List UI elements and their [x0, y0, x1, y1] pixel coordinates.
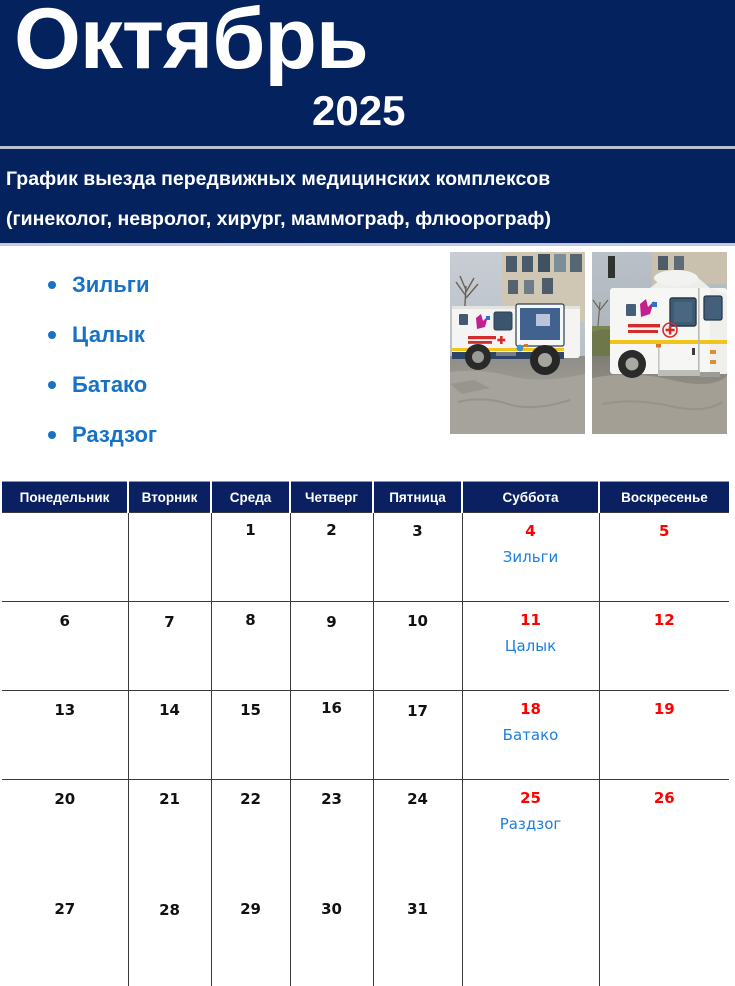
van-photo-right-graphic — [592, 252, 727, 434]
calendar-body: 1 2 3 4 Зильги 5 6 7 8 9 10 11 Цалык — [2, 513, 729, 986]
event-label: Цалык — [463, 637, 599, 655]
calendar-cell[interactable]: 16 — [290, 691, 373, 780]
villages-and-photos-section: Зильги Цалык Батако Раздзог — [0, 246, 735, 484]
weekday-header-thursday: Четверг — [290, 482, 373, 513]
day-number: 25 — [463, 788, 599, 808]
subtitle-line-1: График выезда передвижных медицинских ко… — [6, 159, 729, 199]
calendar-cell[interactable]: 1 — [211, 513, 290, 602]
day-number: 15 — [212, 700, 290, 720]
weekday-header-wednesday: Среда — [211, 482, 290, 513]
calendar-cell[interactable] — [599, 868, 729, 986]
mobile-medical-van-photo-right — [592, 252, 727, 434]
calendar-cell[interactable]: 17 — [373, 691, 462, 780]
day-number: 14 — [129, 700, 211, 720]
calendar-cell[interactable]: 19 — [599, 691, 729, 780]
day-number: 10 — [374, 611, 462, 631]
day-number: 22 — [212, 789, 290, 809]
day-number: 4 — [463, 521, 599, 541]
day-number: 6 — [2, 611, 128, 631]
day-number: 11 — [463, 610, 599, 630]
calendar-cell[interactable]: 13 — [2, 691, 128, 780]
calendar-cell[interactable]: 7 — [128, 602, 211, 691]
weekday-header-friday: Пятница — [373, 482, 462, 513]
calendar-cell[interactable]: 30 — [290, 868, 373, 986]
day-number: 26 — [600, 788, 730, 808]
weekday-header-tuesday: Вторник — [128, 482, 211, 513]
calendar-cell[interactable]: 26 — [599, 780, 729, 869]
year-label: 2025 — [312, 90, 405, 132]
day-number: 1 — [212, 520, 290, 540]
photo-strip — [450, 252, 728, 434]
day-number: 18 — [463, 699, 599, 719]
calendar-cell[interactable]: 15 — [211, 691, 290, 780]
table-row: 1 2 3 4 Зильги 5 — [2, 513, 729, 602]
list-item: Цалык — [0, 310, 440, 360]
calendar-cell[interactable] — [128, 513, 211, 602]
calendar-cell[interactable]: 23 — [290, 780, 373, 869]
calendar-cell[interactable]: 9 — [290, 602, 373, 691]
event-label: Раздзог — [463, 815, 599, 833]
day-number: 31 — [374, 899, 462, 919]
day-number: 5 — [600, 521, 730, 541]
page-title: Октябрь — [14, 0, 368, 84]
calendar-section: Понедельник Вторник Среда Четверг Пятниц… — [0, 481, 735, 986]
calendar-cell[interactable]: 12 — [599, 602, 729, 691]
day-number: 28 — [129, 900, 211, 920]
calendar-header-row: Понедельник Вторник Среда Четверг Пятниц… — [2, 482, 729, 513]
masthead-banner: Октябрь 2025 — [0, 0, 735, 146]
calendar-cell[interactable]: 4 Зильги — [462, 513, 599, 602]
list-item: Раздзог — [0, 410, 440, 460]
day-number: 20 — [2, 789, 128, 809]
calendar-table: Понедельник Вторник Среда Четверг Пятниц… — [2, 481, 729, 986]
calendar-cell[interactable] — [2, 513, 128, 602]
event-label: Батако — [463, 726, 599, 744]
day-number: 29 — [212, 899, 290, 919]
bullet-icon — [48, 431, 56, 439]
day-number: 23 — [291, 789, 373, 809]
table-row: 27 28 29 30 31 — [2, 868, 729, 986]
calendar-cell[interactable]: 3 — [373, 513, 462, 602]
day-number: 2 — [291, 520, 373, 540]
day-number: 19 — [600, 699, 730, 719]
day-number: 21 — [129, 789, 211, 809]
calendar-cell[interactable]: 14 — [128, 691, 211, 780]
calendar-cell[interactable] — [462, 868, 599, 986]
list-item: Батако — [0, 360, 440, 410]
calendar-cell[interactable]: 22 — [211, 780, 290, 869]
village-label: Зильги — [72, 272, 150, 297]
calendar-cell[interactable]: 18 Батако — [462, 691, 599, 780]
calendar-cell[interactable]: 29 — [211, 868, 290, 986]
village-label: Батако — [72, 372, 147, 397]
calendar-cell[interactable]: 27 — [2, 868, 128, 986]
calendar-cell[interactable]: 11 Цалык — [462, 602, 599, 691]
table-row: 20 21 22 23 24 25 Раздзог 26 — [2, 780, 729, 869]
calendar-cell[interactable]: 21 — [128, 780, 211, 869]
calendar-cell[interactable]: 6 — [2, 602, 128, 691]
day-number: 12 — [600, 610, 730, 630]
day-number: 24 — [374, 789, 462, 809]
calendar-cell[interactable]: 8 — [211, 602, 290, 691]
day-number: 16 — [291, 698, 373, 718]
table-row: 13 14 15 16 17 18 Батако 19 — [2, 691, 729, 780]
calendar-cell[interactable]: 20 — [2, 780, 128, 869]
subtitle-line-2: (гинеколог, невролог, хирург, маммограф,… — [6, 199, 729, 239]
weekday-header-saturday: Суббота — [462, 482, 599, 513]
day-number: 27 — [2, 899, 128, 919]
calendar-cell[interactable]: 2 — [290, 513, 373, 602]
bullet-icon — [48, 281, 56, 289]
village-label: Раздзог — [72, 422, 157, 447]
weekday-header-sunday: Воскресенье — [599, 482, 729, 513]
bullet-icon — [48, 331, 56, 339]
weekday-header-monday: Понедельник — [2, 482, 128, 513]
calendar-cell[interactable]: 5 — [599, 513, 729, 602]
calendar-cell[interactable]: 28 — [128, 868, 211, 986]
day-number: 3 — [374, 521, 462, 541]
bullet-icon — [48, 381, 56, 389]
calendar-cell[interactable]: 25 Раздзог — [462, 780, 599, 869]
village-label: Цалык — [72, 322, 145, 347]
day-number: 9 — [291, 612, 373, 632]
day-number: 8 — [212, 610, 290, 630]
event-label: Зильги — [463, 548, 599, 566]
village-list: Зильги Цалык Батако Раздзог — [0, 260, 440, 460]
table-row: 6 7 8 9 10 11 Цалык 12 — [2, 602, 729, 691]
mobile-medical-van-photo-left — [450, 252, 585, 434]
list-item: Зильги — [0, 260, 440, 310]
calendar-cell[interactable]: 31 — [373, 868, 462, 986]
day-number: 30 — [291, 899, 373, 919]
day-number: 17 — [374, 701, 462, 721]
subtitle-band: График выезда передвижных медицинских ко… — [0, 149, 735, 243]
van-photo-left-graphic — [450, 252, 585, 434]
calendar-cell[interactable]: 10 — [373, 602, 462, 691]
day-number: 7 — [129, 612, 211, 632]
day-number: 13 — [2, 700, 128, 720]
calendar-cell[interactable]: 24 — [373, 780, 462, 869]
